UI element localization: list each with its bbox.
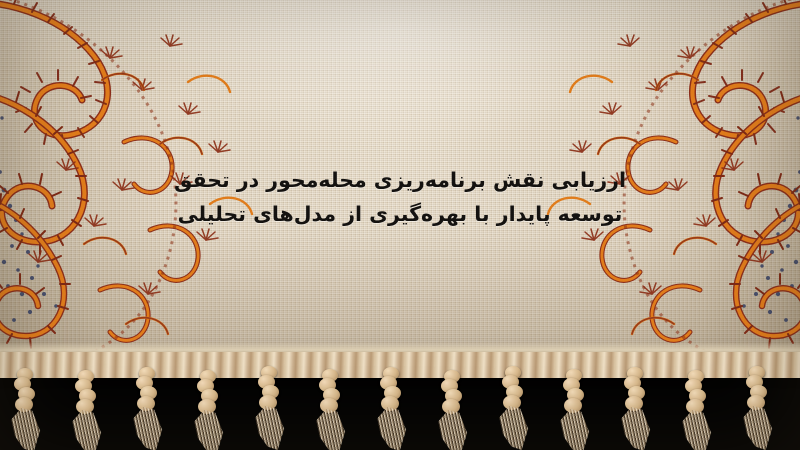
tassel-skirt — [373, 407, 409, 450]
tassel-knot — [257, 366, 281, 412]
tassel-knot — [13, 368, 37, 414]
corner-ornament-right — [496, 0, 800, 366]
tassel-skirt — [251, 406, 287, 450]
tassel-skirt — [434, 410, 470, 450]
tassel — [368, 367, 414, 449]
tassel-skirt — [739, 406, 775, 450]
tassel-knot — [440, 370, 464, 416]
tassel — [551, 369, 597, 450]
tassel-knot — [623, 367, 647, 413]
tassel — [673, 370, 719, 450]
tassel-skirt — [129, 407, 165, 450]
corner-ornament-left — [0, 0, 304, 366]
tassel-skirt — [190, 410, 226, 450]
tassel-knot — [684, 370, 708, 416]
tassel-knot — [318, 369, 342, 415]
tassel-knot — [135, 367, 159, 413]
tassel — [612, 367, 658, 449]
tassel-skirt — [495, 406, 531, 450]
tassel — [734, 366, 780, 448]
tassel-skirt — [7, 408, 43, 450]
tassel-knot — [501, 366, 525, 412]
tassel-knot — [745, 366, 769, 412]
tassel — [63, 370, 109, 450]
tassel-skirt — [678, 410, 714, 450]
banner-image: ارزیابی نقش برنامه‌ریزی محله‌محور در تحق… — [0, 0, 800, 450]
tassel-knot — [196, 370, 220, 416]
tassel-knot — [562, 369, 586, 415]
tassel — [2, 368, 48, 450]
tassel-knot — [74, 370, 98, 416]
tassel-skirt — [556, 409, 592, 450]
tassel — [124, 367, 170, 449]
tassel-skirt — [312, 409, 348, 450]
tassel — [246, 366, 292, 448]
tassel — [185, 370, 231, 450]
tassel-skirt — [617, 407, 653, 450]
tassel — [490, 366, 536, 448]
tassel-knot — [379, 367, 403, 413]
tassel-skirt — [68, 410, 104, 450]
tassel-fringe — [0, 352, 800, 450]
tassel — [307, 369, 353, 450]
tassel — [429, 370, 475, 450]
